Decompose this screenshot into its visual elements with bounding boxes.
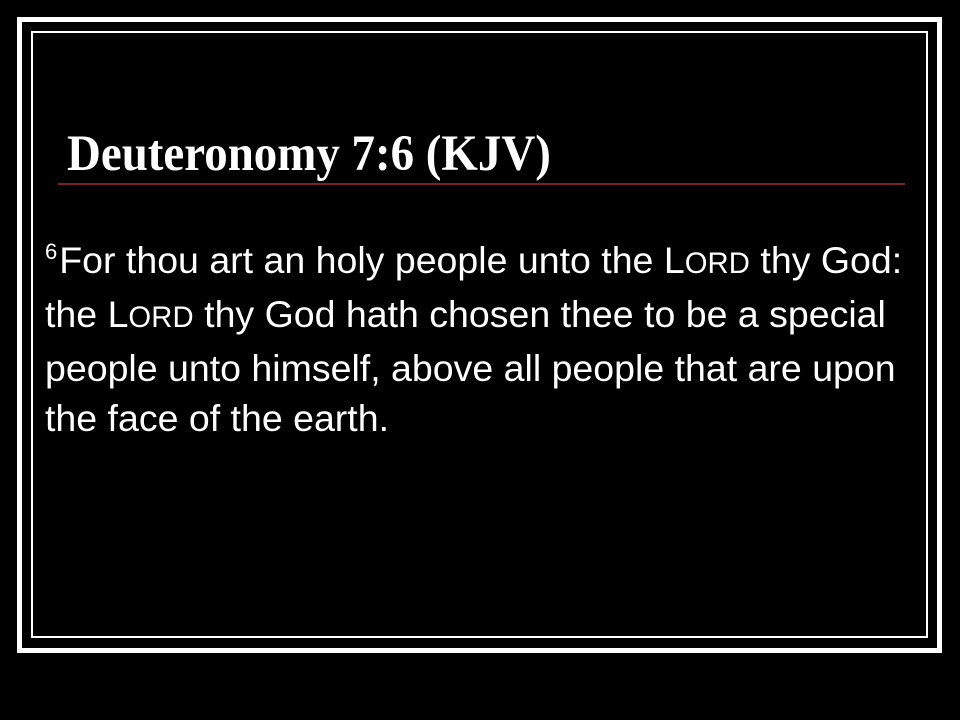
divine-name-capital: L bbox=[108, 293, 129, 335]
divine-name-second: LORD bbox=[108, 293, 194, 335]
verse-body-text: 6For thou art an holy people unto the LO… bbox=[45, 235, 925, 443]
divine-name-smallcaps: ORD bbox=[128, 302, 193, 334]
divine-name-capital: L bbox=[664, 239, 685, 281]
slide-title: Deuteronomy 7:6 (KJV) bbox=[67, 125, 821, 183]
verse-segment-1: For thou art an holy people unto the bbox=[59, 239, 664, 281]
divine-name-first: LORD bbox=[664, 239, 750, 281]
presentation-slide: Deuteronomy 7:6 (KJV) 6For thou art an h… bbox=[0, 0, 960, 720]
title-divider-rule bbox=[58, 183, 905, 185]
divine-name-smallcaps: ORD bbox=[685, 248, 750, 280]
slide-content-area: Deuteronomy 7:6 (KJV) 6For thou art an h… bbox=[33, 33, 926, 636]
verse-number: 6 bbox=[45, 239, 59, 264]
